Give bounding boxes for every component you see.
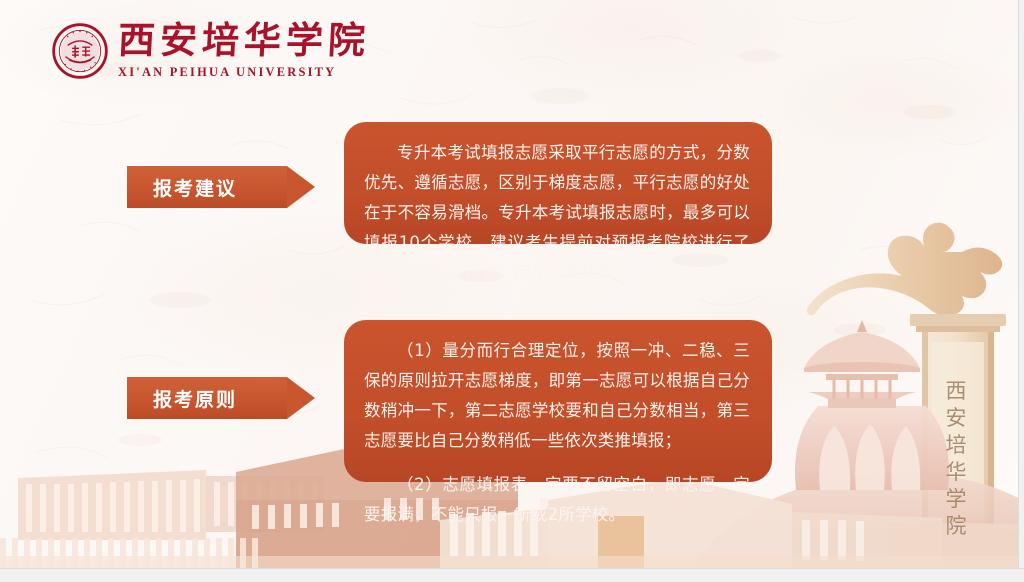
panel-paragraph: 专升本考试填报志愿采取平行志愿的方式，分数优先、遵循志愿，区别于梯度志愿，平行志… bbox=[364, 138, 750, 288]
tag-body: 报考建议 bbox=[127, 166, 287, 208]
panel-paragraph: （2）志愿填报表一定要不留空白，即志愿一定要报满，不能只报一所或2所学校。 bbox=[364, 470, 750, 530]
section-tag-application-principles[interactable]: 报考原则 bbox=[127, 377, 287, 419]
section-tag-application-suggestions[interactable]: 报考建议 bbox=[127, 166, 287, 208]
monument-char: 安 bbox=[941, 405, 971, 432]
paper-background: 西 安 培 华 学 院 bbox=[0, 0, 1018, 568]
university-logo: 西安培华学院 XI'AN PEIHUA UNIVERSITY bbox=[52, 22, 370, 80]
monument-char: 西 bbox=[941, 378, 971, 405]
tag-body: 报考原则 bbox=[127, 377, 287, 419]
logo-wordmark: 西安培华学院 XI'AN PEIHUA UNIVERSITY bbox=[118, 22, 370, 80]
viewer-edge-bottom bbox=[0, 568, 1024, 582]
university-seal-icon bbox=[52, 23, 108, 79]
statue-group bbox=[807, 223, 1006, 542]
panel-paragraph: （1）量分而行合理定位，按照一冲、二稳、三保的原则拉开志愿梯度，即第一志愿可以根… bbox=[364, 336, 750, 456]
logo-name-cn: 西安培华学院 bbox=[117, 22, 371, 62]
monument-char: 培 bbox=[941, 432, 971, 459]
monument-char: 学 bbox=[941, 486, 971, 513]
content-panel-application-suggestions: 专升本考试填报志愿采取平行志愿的方式，分数优先、遵循志愿，区别于梯度志愿，平行志… bbox=[344, 122, 772, 244]
monument-char: 院 bbox=[941, 513, 971, 540]
logo-name-en: XI'AN PEIHUA UNIVERSITY bbox=[118, 65, 370, 80]
viewer-edge-right bbox=[1018, 0, 1024, 582]
tag-label: 报考原则 bbox=[153, 385, 237, 412]
content-panel-application-principles: （1）量分而行合理定位，按照一冲、二稳、三保的原则拉开志愿梯度，即第一志愿可以根… bbox=[344, 320, 772, 482]
monument-char: 华 bbox=[941, 459, 971, 486]
slide-canvas: 西 安 培 华 学 院 bbox=[0, 0, 1024, 582]
tag-label: 报考建议 bbox=[153, 174, 237, 201]
monument-inscription: 西 安 培 华 学 院 bbox=[941, 378, 971, 540]
pavilion-group bbox=[795, 320, 949, 490]
